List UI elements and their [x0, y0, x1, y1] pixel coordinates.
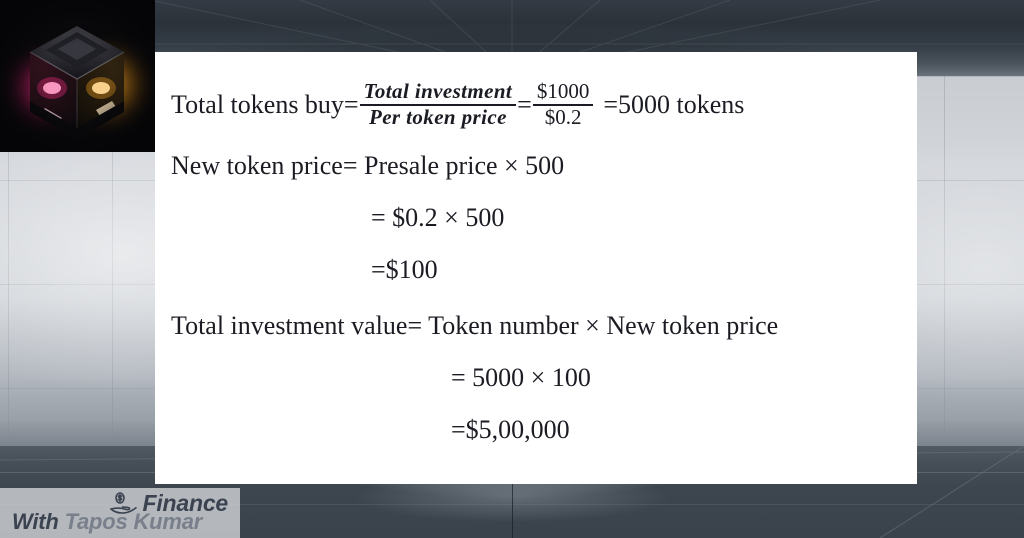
equation-line-1: Total tokens buy= Total investment Per t… [171, 80, 901, 129]
line1-lead-label: Total tokens buy= [171, 90, 359, 120]
equation-line-6: = 5000 × 100 [171, 363, 901, 393]
fraction-total-investment: Total investment Per token price [360, 80, 517, 129]
line1-equals-sign: = [517, 90, 532, 120]
fraction1-denominator: Per token price [365, 106, 511, 130]
equation-line-7: =$5,00,000 [171, 415, 901, 445]
watermark: Finance With Tapos Kumar [0, 488, 240, 538]
watermark-line-2: With Tapos Kumar [12, 509, 202, 535]
thumbnail-vignette [0, 0, 155, 152]
screenshot-root: Total tokens buy= Total investment Per t… [0, 0, 1024, 538]
fraction1-numerator: Total investment [360, 80, 517, 104]
equation-list: Total tokens buy= Total investment Per t… [171, 80, 901, 445]
equation-line-2: New token price= Presale price × 500 [171, 151, 901, 181]
watermark-with-label: With [12, 509, 65, 534]
fraction2-denominator: $0.2 [541, 106, 586, 130]
thumbnail-image [0, 0, 155, 152]
equation-line-3: = $0.2 × 500 [171, 203, 901, 233]
equations-card: Total tokens buy= Total investment Per t… [155, 52, 917, 484]
fraction-dollar-values: $1000 $0.2 [533, 80, 594, 129]
fraction2-numerator: $1000 [533, 80, 594, 104]
watermark-author-label: Tapos Kumar [65, 509, 203, 534]
equation-line-4: =$100 [171, 255, 901, 285]
equation-line-5: Total investment value= Token number × N… [171, 311, 901, 341]
line1-result: =5000 tokens [603, 90, 744, 120]
